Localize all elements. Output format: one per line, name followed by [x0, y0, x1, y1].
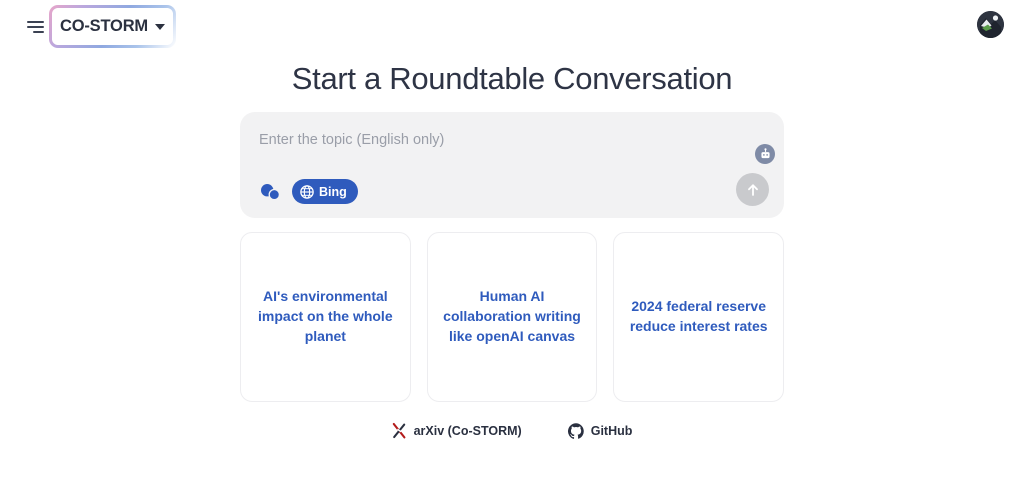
suggestion-card-text: Human AI collaboration writing like open…	[442, 287, 583, 347]
send-button[interactable]	[736, 173, 769, 206]
chevron-down-icon	[155, 24, 165, 30]
suggestion-cards: AI's environmental impact on the whole p…	[240, 232, 784, 402]
source-bing-button[interactable]: Bing	[292, 179, 358, 204]
footer-link-github[interactable]: GitHub	[568, 423, 633, 439]
arxiv-icon	[392, 422, 407, 439]
app-header: CO-STORM	[0, 0, 1024, 53]
robot-glyph	[759, 148, 772, 161]
topic-input-placeholder[interactable]: Enter the topic (English only)	[259, 132, 444, 148]
footer-link-arxiv-label: arXiv (Co-STORM)	[414, 424, 522, 438]
footer-links: arXiv (Co-STORM) GitHub	[0, 422, 1024, 439]
source-bing-label: Bing	[319, 185, 347, 199]
model-switcher-inner: CO-STORM	[52, 8, 173, 45]
robot-icon[interactable]	[755, 144, 775, 164]
globe-icon	[300, 185, 314, 199]
suggestion-card[interactable]: Human AI collaboration writing like open…	[427, 232, 598, 402]
arrow-up-icon	[745, 182, 761, 198]
hamburger-icon[interactable]	[18, 14, 44, 40]
user-avatar[interactable]	[977, 11, 1004, 38]
topic-composer[interactable]: Enter the topic (English only) Bing	[240, 112, 784, 218]
composer-tools: Bing	[259, 179, 358, 204]
chat-bubbles-icon[interactable]	[259, 182, 281, 202]
hamburger-line	[27, 21, 44, 23]
footer-link-github-label: GitHub	[591, 424, 633, 438]
model-switcher-button[interactable]: CO-STORM	[49, 5, 176, 48]
hamburger-line	[27, 26, 44, 28]
model-name-label: CO-STORM	[60, 17, 148, 36]
footer-link-arxiv[interactable]: arXiv (Co-STORM)	[392, 422, 522, 439]
hamburger-line	[33, 31, 44, 33]
suggestion-card[interactable]: 2024 federal reserve reduce interest rat…	[613, 232, 784, 402]
suggestion-card-text: AI's environmental impact on the whole p…	[255, 287, 396, 347]
suggestion-card[interactable]: AI's environmental impact on the whole p…	[240, 232, 411, 402]
avatar-image	[977, 11, 1004, 38]
suggestion-card-text: 2024 federal reserve reduce interest rat…	[628, 297, 769, 337]
github-icon	[568, 423, 584, 439]
page-title: Start a Roundtable Conversation	[0, 61, 1024, 97]
